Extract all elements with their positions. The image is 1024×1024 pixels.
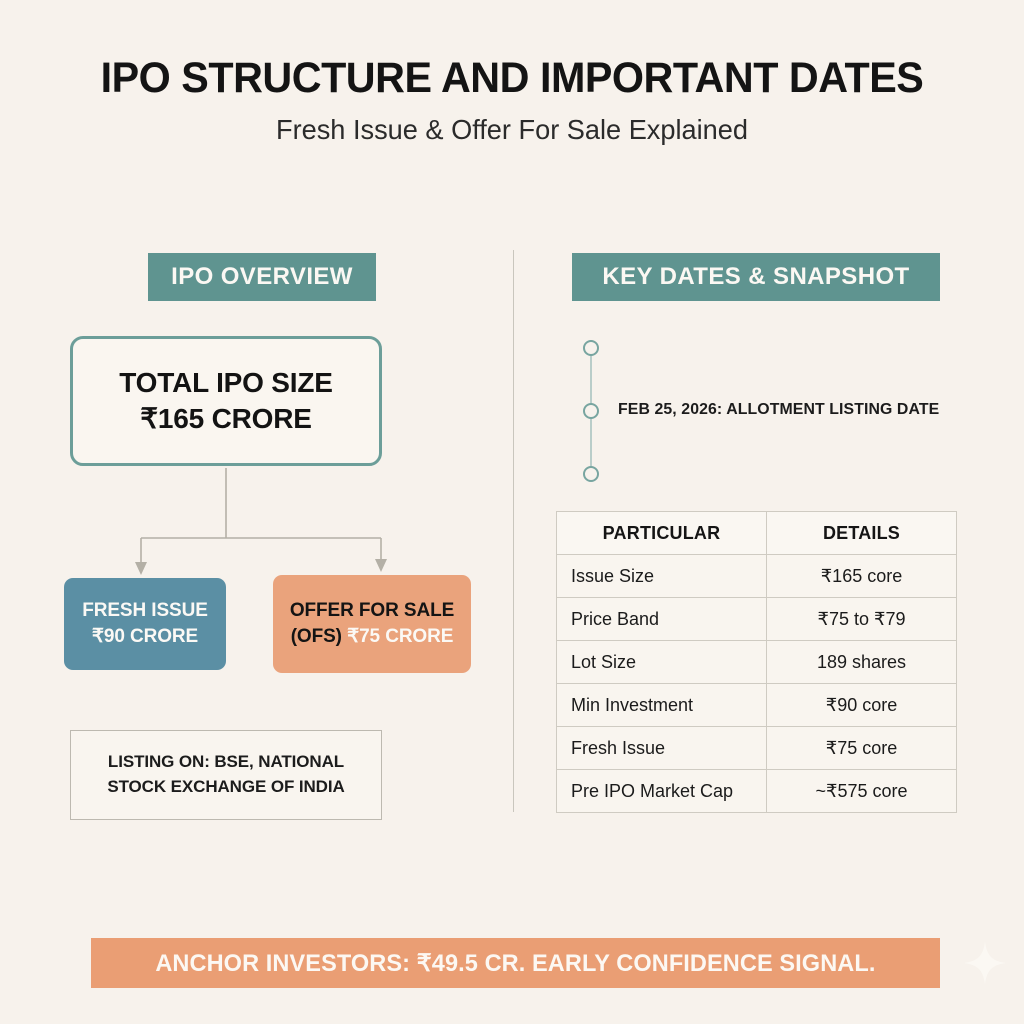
table-cell-details: ₹165 core — [767, 555, 957, 598]
listing-exchange-text: LISTING ON: BSE, NATIONAL STOCK EXCHANGE… — [107, 750, 344, 799]
table-cell-details: ₹90 core — [767, 684, 957, 727]
fresh-issue-value: ₹90 CRORE — [92, 624, 198, 650]
offer-for-sale-value: ₹75 CRORE — [347, 626, 453, 647]
listing-exchange-line1: LISTING ON: BSE, NATIONAL — [108, 752, 344, 771]
sparkle-icon — [962, 940, 1008, 986]
table-cell-details: ₹75 to ₹79 — [767, 598, 957, 641]
snapshot-table: PARTICULAR DETAILS Issue Size ₹165 core … — [556, 511, 957, 813]
table-cell-particular: Min Investment — [557, 684, 767, 727]
timeline-marker-label: FEB 25, 2026: ALLOTMENT LISTING DATE — [618, 401, 939, 419]
section-badge-ipo-overview: IPO OVERVIEW — [148, 253, 376, 301]
offer-for-sale-label: OFFER FOR SALE — [290, 598, 454, 624]
total-ipo-size-value: ₹165 CRORE — [140, 401, 311, 437]
page-title: IPO STRUCTURE AND IMPORTANT DATES — [20, 56, 1003, 101]
infographic-root: IPO STRUCTURE AND IMPORTANT DATES Fresh … — [0, 0, 1024, 1024]
table-column-header-details: DETAILS — [767, 512, 957, 555]
table-column-header-particular: PARTICULAR — [557, 512, 767, 555]
table-row: Issue Size ₹165 core — [557, 555, 957, 598]
fresh-issue-box: FRESH ISSUE ₹90 CRORE — [64, 578, 226, 670]
total-ipo-size-box: TOTAL IPO SIZE ₹165 CRORE — [70, 336, 382, 466]
timeline-marker-dot — [583, 340, 599, 356]
table-row: Pre IPO Market Cap ~₹575 core — [557, 770, 957, 813]
timeline-marker-dot — [583, 466, 599, 482]
section-badge-ipo-overview-label: IPO OVERVIEW — [171, 263, 353, 291]
offer-for-sale-box: OFFER FOR SALE (OFS) ₹75 CRORE — [273, 575, 471, 673]
table-cell-particular: Fresh Issue — [557, 727, 767, 770]
section-badge-key-dates-label: KEY DATES & SNAPSHOT — [602, 263, 909, 291]
table-header-row: PARTICULAR DETAILS — [557, 512, 957, 555]
section-badge-key-dates: KEY DATES & SNAPSHOT — [572, 253, 940, 301]
timeline-marker-dot — [583, 403, 599, 419]
column-divider — [513, 250, 514, 812]
table-row: Lot Size 189 shares — [557, 641, 957, 684]
table-cell-details: 189 shares — [767, 641, 957, 684]
table-cell-particular: Pre IPO Market Cap — [557, 770, 767, 813]
table-cell-details: ~₹575 core — [767, 770, 957, 813]
table-row: Fresh Issue ₹75 core — [557, 727, 957, 770]
offer-for-sale-value-row: (OFS) ₹75 CRORE — [291, 624, 454, 650]
anchor-investors-banner: ANCHOR INVESTORS: ₹49.5 CR. EARLY CONFID… — [91, 938, 940, 988]
table-cell-particular: Issue Size — [557, 555, 767, 598]
total-ipo-size-label: TOTAL IPO SIZE — [119, 365, 332, 401]
table-row: Price Band ₹75 to ₹79 — [557, 598, 957, 641]
fresh-issue-label: FRESH ISSUE — [82, 598, 208, 624]
table-cell-details: ₹75 core — [767, 727, 957, 770]
table-cell-particular: Price Band — [557, 598, 767, 641]
key-dates-timeline: FEB 25, 2026: ALLOTMENT LISTING DATE — [575, 330, 955, 490]
anchor-investors-banner-text: ANCHOR INVESTORS: ₹49.5 CR. EARLY CONFID… — [155, 949, 875, 978]
table-row: Min Investment ₹90 core — [557, 684, 957, 727]
listing-exchange-box: LISTING ON: BSE, NATIONAL STOCK EXCHANGE… — [70, 730, 382, 820]
page-subtitle: Fresh Issue & Offer For Sale Explained — [15, 114, 1008, 146]
table-cell-particular: Lot Size — [557, 641, 767, 684]
offer-for-sale-abbrev: (OFS) — [291, 626, 342, 647]
listing-exchange-line2: STOCK EXCHANGE OF INDIA — [107, 777, 344, 796]
